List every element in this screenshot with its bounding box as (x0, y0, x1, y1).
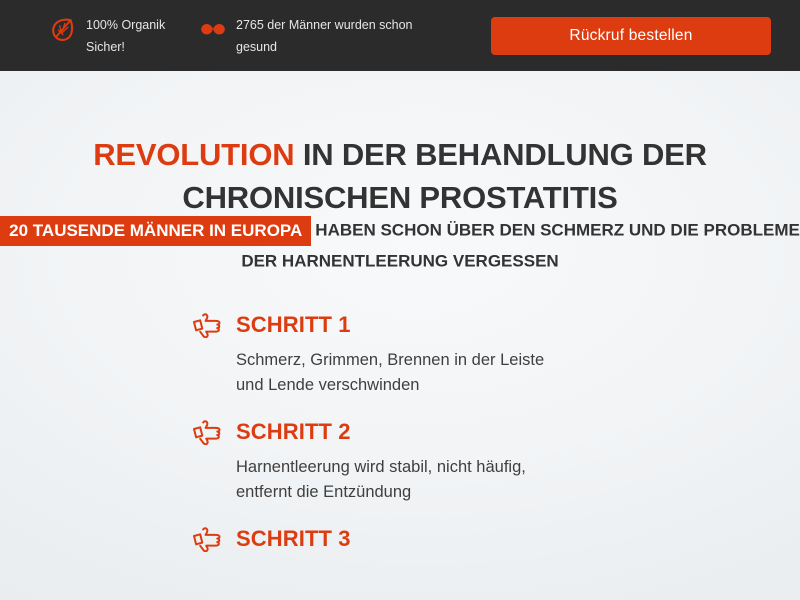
order-callback-button[interactable]: Rückruf bestellen (491, 17, 771, 55)
topbar-feature-count: 2765 der Männer wurden schon gesund (200, 14, 435, 58)
mustache-icon (200, 15, 226, 45)
step-header: SCHRITT 3 (189, 521, 609, 557)
subheadline-badge: 20 TAUSENDE MÄNNER IN EUROPA (0, 216, 311, 246)
step-item: SCHRITT 3 (189, 521, 609, 557)
steps-list: SCHRITT 1 Schmerz, Grimmen, Brennen in d… (189, 307, 609, 573)
step-body: Schmerz, Grimmen, Brennen in der Leiste … (236, 348, 566, 398)
leaf-icon (50, 15, 76, 45)
step-header: SCHRITT 1 (189, 307, 609, 343)
topbar-feature-count-label: 2765 der Männer wurden schon gesund (236, 14, 435, 58)
step-title: SCHRITT 2 (236, 419, 351, 445)
pointing-hand-icon (189, 417, 225, 447)
landing-page: 100% Organik Sicher! 2765 der Männer wur… (0, 0, 800, 600)
subheadline-tail: HABEN SCHON ÜBER DEN SCHMERZ UND DIE PRO… (241, 221, 800, 271)
step-title: SCHRITT 1 (236, 312, 351, 338)
step-item: SCHRITT 2 Harnentleerung wird stabil, ni… (189, 414, 609, 505)
topbar-feature-organic: 100% Organik Sicher! (50, 14, 190, 58)
page-title: REVOLUTION IN DER BEHANDLUNG DER CHRONIS… (0, 133, 800, 219)
pointing-hand-icon (189, 524, 225, 554)
step-body: Harnentleerung wird stabil, nicht häufig… (236, 455, 566, 505)
topbar-feature-organic-label: 100% Organik Sicher! (86, 14, 190, 58)
step-item: SCHRITT 1 Schmerz, Grimmen, Brennen in d… (189, 307, 609, 398)
pointing-hand-icon (189, 310, 225, 340)
step-header: SCHRITT 2 (189, 414, 609, 450)
top-bar: 100% Organik Sicher! 2765 der Männer wur… (0, 0, 800, 71)
headline-accent-word: REVOLUTION (93, 137, 294, 172)
step-title: SCHRITT 3 (236, 526, 351, 552)
subheadline: 20 TAUSENDE MÄNNER IN EUROPAHABEN SCHON … (0, 215, 800, 276)
